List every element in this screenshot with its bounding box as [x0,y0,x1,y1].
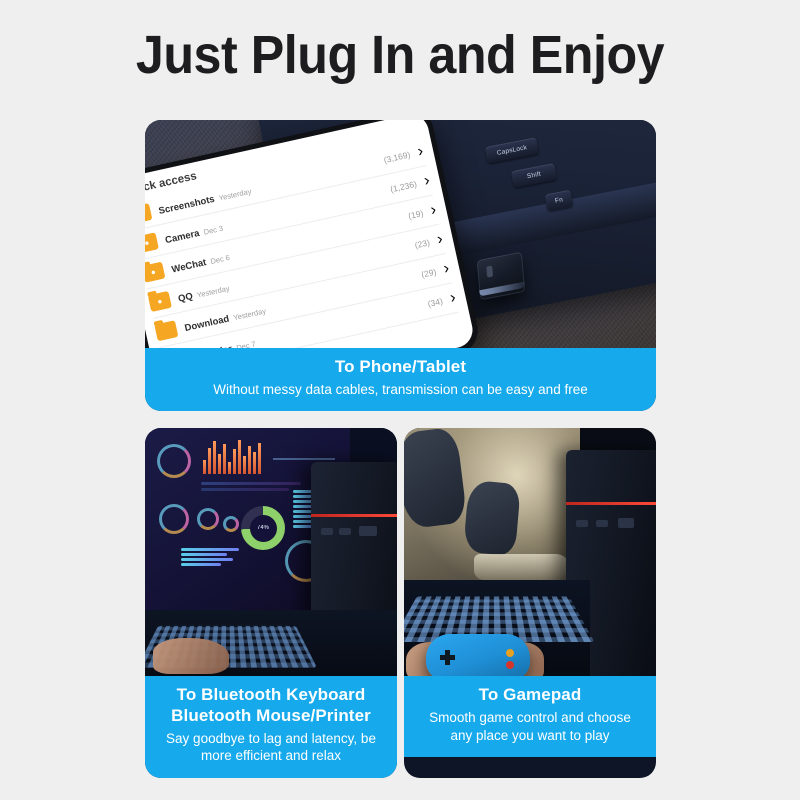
drive-bay [359,526,377,536]
file-name: QQ [177,290,194,304]
file-date: Dec 6 [209,252,230,265]
gamepad-button-b [506,661,514,669]
game-terrain [474,554,570,580]
file-count: (1,236) [389,178,417,194]
card-bluetooth-hero-image: 74% [145,428,397,676]
file-date: Dec 3 [203,223,224,236]
file-name: Recorder [190,343,233,348]
file-date: Yesterday [232,306,266,322]
chevron-right-icon: › [442,259,451,278]
feature-card-bluetooth-peripherals[interactable]: 74% [145,428,397,778]
chevron-right-icon: › [416,142,425,161]
folder-icon: ▣ [145,203,152,224]
caption-title-line1: To Bluetooth Keyboard [155,685,387,706]
gamepad-button-a [506,649,514,657]
chevron-right-icon: › [422,171,431,190]
feature-card-row: 74% [145,428,656,778]
page-title: Just Plug In and Enjoy [28,0,772,86]
pie-chart-icon [157,444,191,478]
legend-bars [181,548,243,566]
usb-port [576,520,588,527]
file-name: WeChat [171,257,208,275]
file-date: Yesterday [218,186,252,202]
card-phone-caption: To Phone/Tablet Without messy data cable… [145,348,656,411]
tower-accent-stripe [311,514,397,517]
file-count: (23) [414,237,431,250]
file-name: Screenshots [158,193,216,216]
card-gamepad-caption: To Gamepad Smooth game control and choos… [404,676,656,757]
file-name: Camera [164,227,200,245]
hand [153,638,229,674]
folder-icon [154,320,178,341]
caption-subtitle-line1: Smooth game control and choose [414,709,646,727]
gamepad-controller [426,634,530,676]
chevron-right-icon: › [435,230,444,249]
usb-port [339,528,351,535]
file-count: (19) [407,208,424,221]
card-gamepad-hero-image [404,428,656,676]
folder-icon: ● [145,232,159,253]
tower-accent-stripe [566,502,656,505]
card-bluetooth-caption: To Bluetooth Keyboard Bluetooth Mouse/Pr… [145,676,397,778]
card-phone-hero-image: CapsLock Shift Fn Quick access ▣ Screens… [145,120,656,348]
drive-bay [618,518,634,528]
feature-card-list: CapsLock Shift Fn Quick access ▣ Screens… [145,120,656,778]
caption-subtitle-line1: Say goodbye to lag and latency, be [155,730,387,748]
folder-icon: ● [148,291,172,312]
feature-card-gamepad[interactable]: To Gamepad Smooth game control and choos… [404,428,656,778]
file-count: (29) [420,266,437,279]
dpad-icon [440,650,455,665]
donut-chart-icon [197,508,219,530]
caption-subtitle-line2: any place you want to play [414,727,646,745]
game-character [463,480,521,556]
usb-port [596,520,608,527]
feature-card-phone-tablet[interactable]: CapsLock Shift Fn Quick access ▣ Screens… [145,120,656,411]
caption-title: To Gamepad [414,685,646,706]
file-date: Dec 7 [235,339,256,348]
gauge-chart: 74% [241,506,285,550]
folder-icon: ● [145,262,165,283]
caption-title-line2: Bluetooth Mouse/Printer [155,706,387,727]
caption-subtitle-line2: more efficient and relax [155,747,387,765]
file-date: Yesterday [196,283,230,299]
file-name: Download [184,313,231,334]
gauge-value: 74% [257,525,269,531]
bar-chart-icon [203,438,261,474]
usb-port [321,528,333,535]
file-count: (34) [427,295,444,308]
chevron-right-icon: › [448,289,457,308]
caption-title: To Phone/Tablet [155,357,646,378]
game-character [404,428,468,529]
chevron-right-icon: › [429,201,438,220]
game-scene-screen [404,428,580,586]
file-count: (3,169) [383,149,411,165]
donut-chart-icon [223,516,239,532]
donut-chart-icon [159,504,189,534]
caption-subtitle: Without messy data cables, transmission … [155,381,646,399]
